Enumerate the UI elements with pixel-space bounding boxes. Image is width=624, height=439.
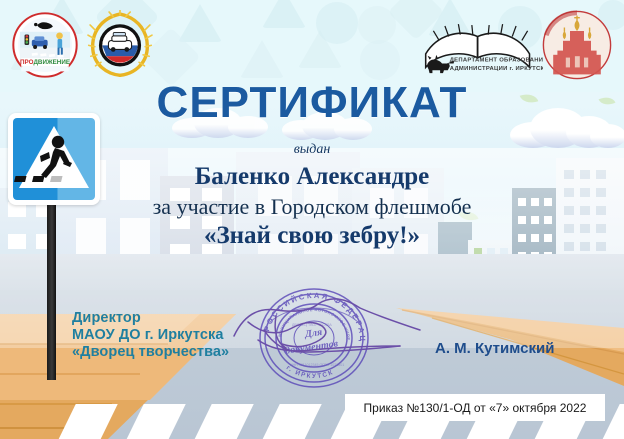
handwritten-signature xyxy=(228,288,428,374)
signatory-role-line-2: МАОУ ДО г. Иркутска xyxy=(72,327,229,344)
prodvizhenie-caption: ПРОДВИЖЕНИЕ xyxy=(20,59,70,66)
signatory-role: Директор МАОУ ДО г. Иркутска «Дворец тво… xyxy=(72,310,229,361)
order-reference: Приказ №130/1-ОД от «7» октября 2022 xyxy=(345,394,605,421)
awarded-label: выдан xyxy=(0,142,624,158)
page-title: СЕРТИФИКАТ xyxy=(0,78,624,128)
recipient-name: Баленко Александре xyxy=(0,163,624,191)
prodvizhenie-logo: ПРОДВИЖЕНИЕ xyxy=(12,12,78,78)
department-line-1: ДЕПАРТАМЕНТ ОБРАЗОВАНИЯ xyxy=(450,58,543,64)
gibdd-emblem xyxy=(86,10,154,78)
department-line-2: АДМИНИСТРАЦИИ г. ИРКУТСКА xyxy=(450,66,543,72)
signatory-role-line-3: «Дворец творчества» xyxy=(72,344,229,361)
certificate: ПРОДВИЖЕНИЕ xyxy=(0,0,624,439)
department-of-education-logo: ДЕПАРТАМЕНТ ОБРАЗОВАНИЯ АДМИНИСТРАЦИИ г.… xyxy=(418,20,543,80)
signer-name: А. М. Кутимский xyxy=(435,340,554,357)
irkutsk-cathedral-emblem xyxy=(542,10,612,80)
event-name: «Знай свою зебру!» xyxy=(0,222,624,250)
award-reason: за участие в Городском флешмобе xyxy=(0,194,624,220)
signatory-role-line-1: Директор xyxy=(72,310,229,327)
